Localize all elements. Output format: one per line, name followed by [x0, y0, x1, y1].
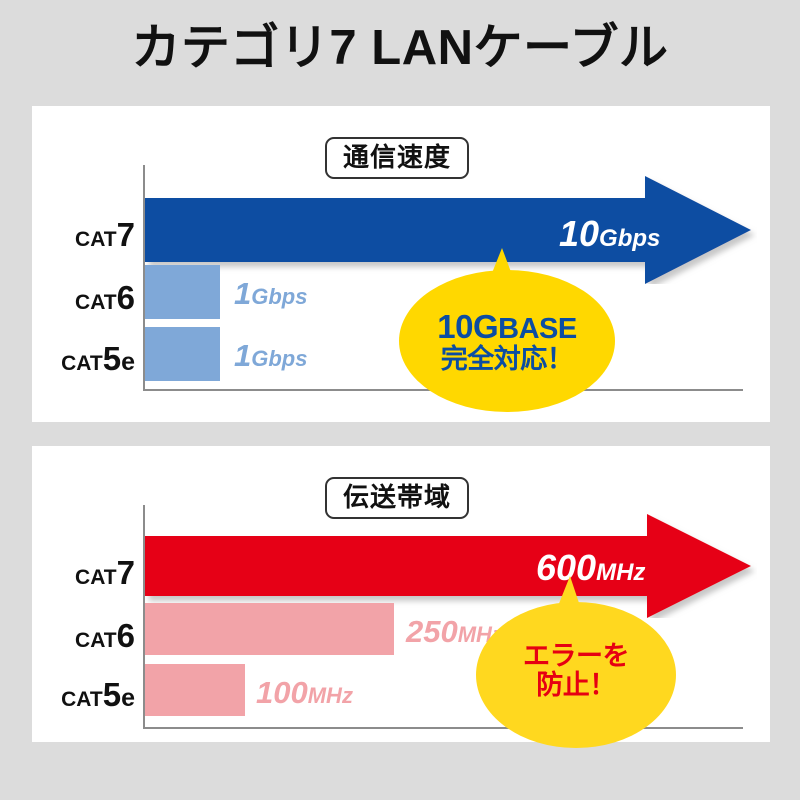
- cat-label-number: 6: [117, 279, 135, 316]
- value-label-cat6-speed: 1Gbps: [234, 278, 307, 309]
- callout-line-1-rest: BASE: [498, 313, 577, 345]
- cat-label-number: 6: [117, 617, 135, 654]
- cat-label-cat7-bandwidth: CAT7: [50, 556, 135, 589]
- value-number: 1: [234, 276, 251, 311]
- cat-label-suffix: e: [121, 348, 135, 376]
- callout-line-2: 完全対応！: [399, 345, 615, 374]
- value-unit: Gbps: [251, 346, 307, 371]
- cat-label-word: CAT: [61, 352, 103, 375]
- cat-label-number: 7: [117, 554, 135, 591]
- page-title: カテゴリ7 LANケーブル: [0, 22, 800, 76]
- cat-label-number: 7: [117, 216, 135, 253]
- bar-cat5e-speed: [145, 327, 220, 381]
- cat-label-cat6-speed: CAT6: [50, 281, 135, 314]
- cat-label-cat7-speed: CAT7: [50, 218, 135, 251]
- callout-line-1: 10GBASE: [399, 309, 615, 345]
- callout-line-1: エラーを: [476, 642, 676, 671]
- cat-label-word: CAT: [75, 291, 117, 314]
- cat-label-cat5e-speed: CAT5e: [50, 342, 135, 375]
- cat-label-cat6-bandwidth: CAT6: [50, 619, 135, 652]
- bar-cat6-bandwidth: [145, 603, 394, 655]
- value-unit: MHz: [308, 683, 353, 708]
- cat-label-word: CAT: [61, 688, 103, 711]
- cat-label-suffix: e: [121, 684, 135, 712]
- callout-line-1-lead: 10G: [437, 308, 498, 345]
- chart-header-speed: 通信速度: [325, 137, 469, 179]
- value-number: 100: [256, 675, 308, 710]
- callout-text-error: エラーを 防止！: [476, 642, 676, 700]
- value-label-cat5e-speed: 1Gbps: [234, 340, 307, 371]
- value-label-cat5e-bandwidth: 100MHz: [256, 677, 353, 708]
- value-number: 1: [234, 338, 251, 373]
- bar-cat5e-bandwidth: [145, 664, 245, 716]
- chart-panel-bandwidth: 伝送帯域 CAT7 CAT6 CAT5e 600MHz 250MHz 100MH…: [32, 446, 770, 742]
- chart-header-bandwidth: 伝送帯域: [325, 477, 469, 519]
- cat-label-number: 5: [103, 340, 121, 377]
- cat-label-cat5e-bandwidth: CAT5e: [50, 678, 135, 711]
- cat-label-number: 5: [103, 676, 121, 713]
- value-unit: Gbps: [251, 284, 307, 309]
- bar-cat6-speed: [145, 265, 220, 319]
- cat-label-word: CAT: [75, 228, 117, 251]
- callout-text-10gbase: 10GBASE 完全対応！: [399, 309, 615, 374]
- chart-panel-speed: 通信速度 CAT7 CAT6 CAT5e 10Gbps 1Gbps 1Gbps: [32, 106, 770, 422]
- cat-label-word: CAT: [75, 566, 117, 589]
- value-number: 250: [406, 614, 458, 649]
- callout-line-2: 防止！: [476, 671, 676, 700]
- cat-label-word: CAT: [75, 629, 117, 652]
